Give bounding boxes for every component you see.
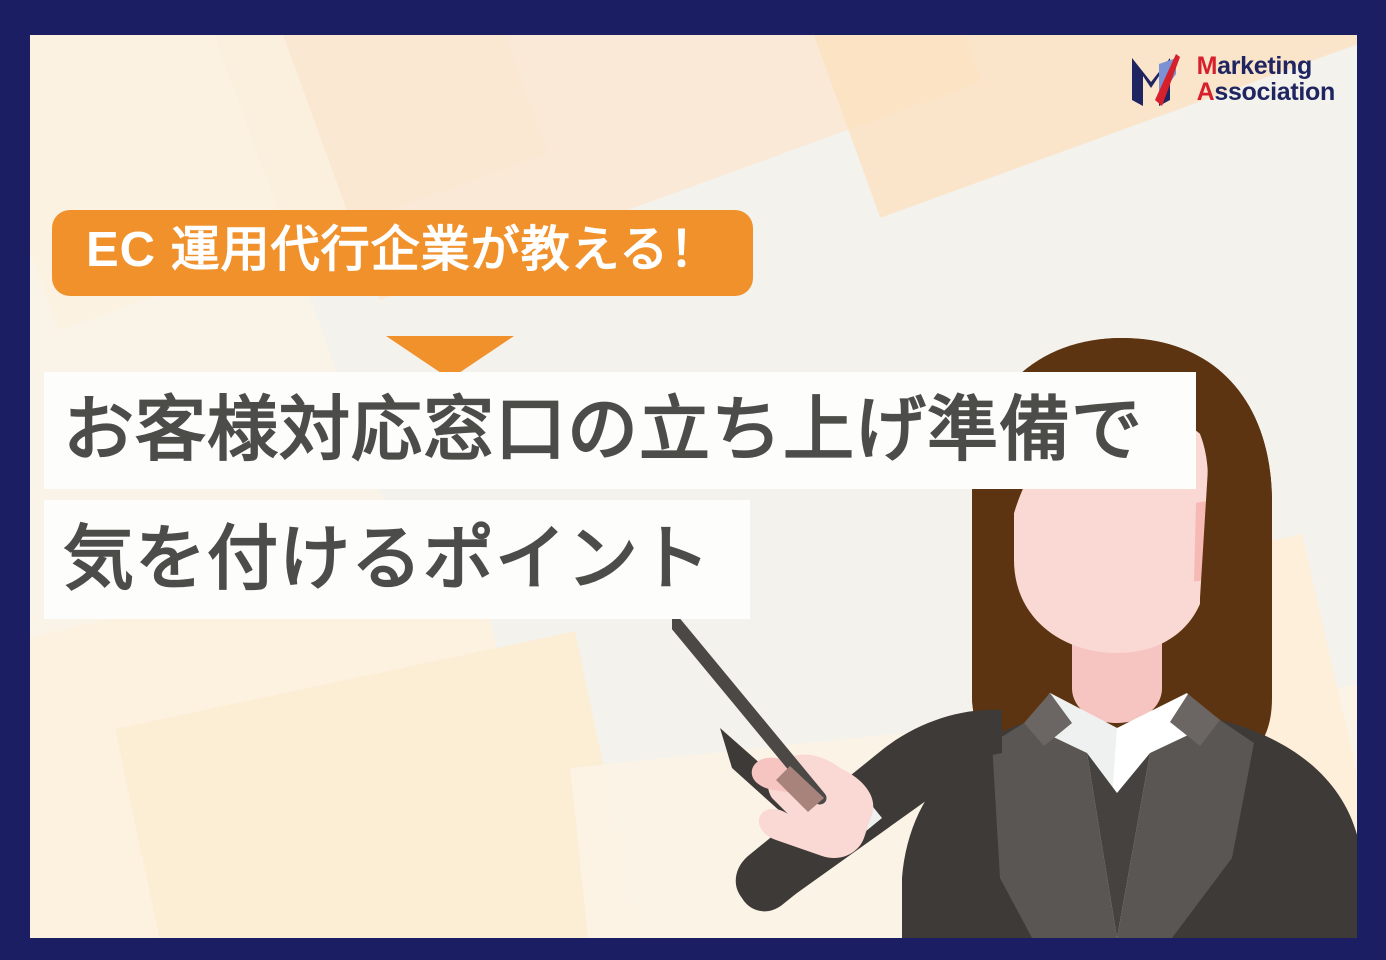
brand-logo-initial-m: M [1197, 52, 1218, 80]
headline-line-1: お客様対応窓口の立ち上げ準備で [63, 395, 1143, 466]
brand-logo-word-marketing: arketing [1217, 52, 1312, 80]
eyebrow-badge-body: EC 運用代行企業が教える！ [52, 210, 753, 296]
headline-band-2: 気を付けるポイント [44, 500, 750, 619]
brand-logo-word-association: ssociation [1214, 78, 1335, 106]
eyebrow-badge-label: EC 運用代行企業が教える！ [86, 223, 719, 277]
brand-logo-text: Marketing Association [1197, 53, 1335, 106]
brand-logo-line-1: Marketing [1197, 53, 1335, 80]
brand-logo: Marketing Association [1128, 48, 1335, 110]
headline-band-1: お客様対応窓口の立ち上げ準備で [44, 372, 1196, 489]
eyebrow-badge: EC 運用代行企業が教える！ [52, 210, 753, 296]
brand-logo-initial-a: A [1197, 78, 1215, 106]
content-panel: Marketing Association EC 運用代行企業が教える！ お客様… [30, 35, 1357, 938]
brand-logo-line-2: Association [1197, 79, 1335, 106]
headline-line-2: 気を付けるポイント [63, 524, 711, 595]
decorative-shape-6 [115, 631, 675, 938]
marketing-association-logo-mark-icon [1128, 48, 1186, 110]
banner-root: Marketing Association EC 運用代行企業が教える！ お客様… [0, 0, 1386, 960]
